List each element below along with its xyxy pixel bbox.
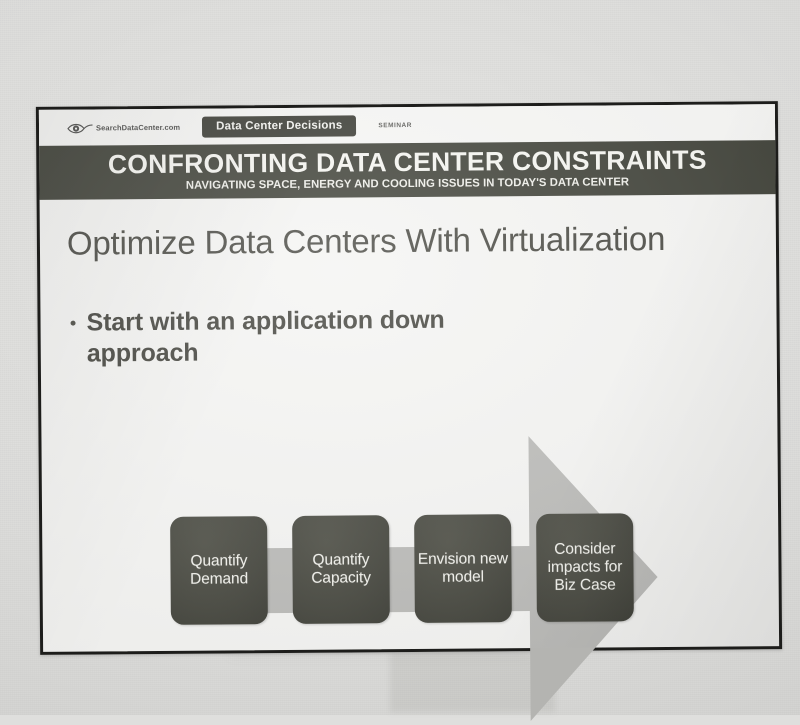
process-step-label: Consider impacts for Biz Case xyxy=(536,540,633,596)
bullet-dot-icon xyxy=(71,321,76,326)
brand-strip: SearchDataCenter.com Data Center Decisio… xyxy=(39,104,775,146)
eye-icon xyxy=(67,121,93,134)
process-step-consider-impacts-for-biz-case[interactable]: Consider impacts for Biz Case xyxy=(536,513,634,622)
slide-body: Optimize Data Centers With Virtualizatio… xyxy=(40,194,779,648)
seminar-label: SEMINAR xyxy=(378,121,412,128)
presentation-slide: SearchDataCenter.com Data Center Decisio… xyxy=(36,101,782,655)
page-title: Optimize Data Centers With Virtualizatio… xyxy=(67,220,666,263)
bullet-item: Start with an application down approach xyxy=(70,304,516,369)
process-step-quantify-demand[interactable]: Quantify Demand xyxy=(170,516,268,625)
banner: CONFRONTING DATA CENTER CONSTRAINTS NAVI… xyxy=(39,140,775,200)
banner-title: CONFRONTING DATA CENTER CONSTRAINTS xyxy=(39,145,775,179)
process-step-label: Envision new model xyxy=(414,550,511,587)
searchdatacenter-logo: SearchDataCenter.com xyxy=(67,120,180,134)
bullet-item-label: Start with an application down approach xyxy=(86,304,516,368)
process-step-label: Quantify Demand xyxy=(170,552,267,589)
process-step-list: Quantify Demand Quantify Capacity Envisi… xyxy=(170,513,634,625)
data-center-decisions-badge: Data Center Decisions xyxy=(202,115,356,137)
process-step-quantify-capacity[interactable]: Quantify Capacity xyxy=(292,515,390,624)
brand-logo-text: SearchDataCenter.com xyxy=(96,122,180,132)
process-step-envision-new-model[interactable]: Envision new model xyxy=(414,514,512,623)
process-step-label: Quantify Capacity xyxy=(292,551,389,588)
